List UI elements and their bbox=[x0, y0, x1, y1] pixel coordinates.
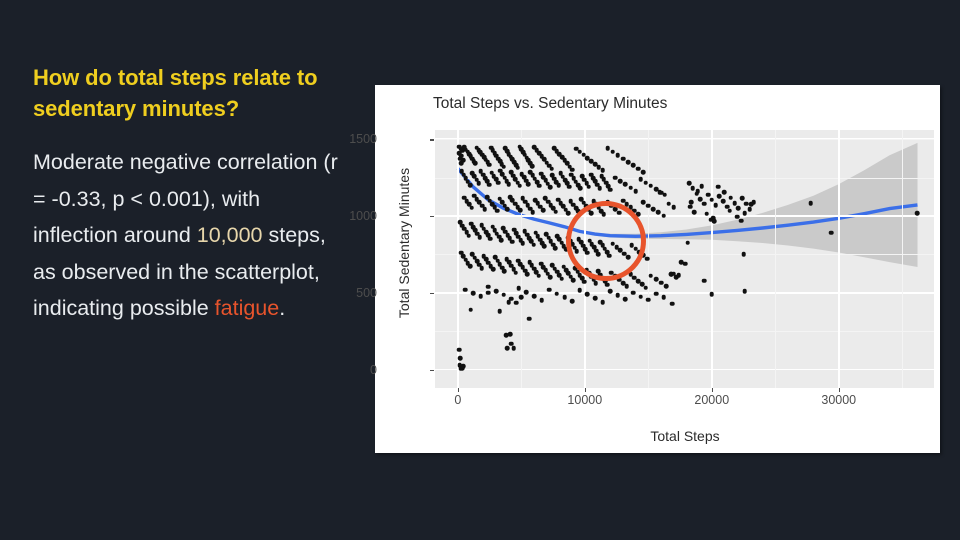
x-tick-mark bbox=[458, 388, 459, 392]
scatter-point bbox=[508, 332, 513, 337]
slide: How do total steps relate to sedentary m… bbox=[0, 0, 960, 540]
scatter-point bbox=[722, 190, 727, 195]
scatter-point bbox=[716, 185, 721, 190]
scatter-point bbox=[638, 177, 643, 182]
scatter-point bbox=[649, 184, 654, 189]
gridline-vertical-minor bbox=[521, 130, 522, 388]
y-tick-mark bbox=[430, 216, 434, 217]
scatter-point bbox=[749, 202, 754, 207]
annotation-circle-inflection bbox=[566, 201, 646, 281]
gridline-horizontal bbox=[435, 215, 934, 217]
scatter-point bbox=[717, 194, 722, 199]
scatter-point bbox=[487, 162, 492, 167]
y-tick-mark bbox=[430, 293, 434, 294]
scatter-point bbox=[548, 275, 553, 280]
scatter-point bbox=[502, 269, 507, 274]
scatter-point bbox=[809, 201, 814, 206]
scatter-point bbox=[671, 271, 676, 276]
scatter-point bbox=[479, 266, 484, 271]
x-tick-mark bbox=[712, 388, 713, 392]
scatter-point bbox=[487, 182, 492, 187]
scatter-point bbox=[666, 201, 671, 206]
scatter-point bbox=[577, 288, 582, 293]
scatter-point bbox=[656, 210, 661, 215]
scatter-point bbox=[623, 297, 628, 302]
scatter-point bbox=[553, 246, 558, 251]
highlight-steps-value: 10,000 bbox=[197, 223, 263, 247]
scatter-point bbox=[497, 309, 502, 314]
scatter-point bbox=[468, 183, 473, 188]
scatter-point bbox=[531, 243, 536, 248]
scatter-point bbox=[654, 291, 659, 296]
scatter-point bbox=[618, 179, 623, 184]
x-tick-label: 10000 bbox=[550, 393, 620, 407]
scatter-point bbox=[466, 233, 471, 238]
scatter-point bbox=[685, 241, 690, 246]
scatter-point bbox=[641, 200, 646, 205]
scatter-point bbox=[676, 273, 681, 278]
chart-card: Total Steps vs. Sedentary Minutes Total … bbox=[375, 85, 940, 453]
scatter-point bbox=[706, 192, 711, 197]
scatter-point bbox=[471, 291, 476, 296]
scatter-point bbox=[514, 270, 519, 275]
scatter-point bbox=[712, 219, 717, 224]
scatter-point bbox=[704, 211, 709, 216]
scatter-point bbox=[505, 346, 510, 351]
scatter-point bbox=[517, 286, 522, 291]
scatter-point bbox=[643, 180, 648, 185]
x-tick-mark bbox=[839, 388, 840, 392]
y-tick-mark bbox=[430, 370, 434, 371]
scatter-point bbox=[649, 274, 654, 279]
scatter-point bbox=[597, 186, 602, 191]
scatter-point bbox=[616, 153, 621, 158]
scatter-point bbox=[488, 236, 493, 241]
y-tick-label: 1500 bbox=[317, 132, 377, 146]
scatter-point bbox=[621, 156, 626, 161]
scatter-point bbox=[613, 175, 618, 180]
scatter-point bbox=[511, 346, 516, 351]
scatter-point bbox=[510, 240, 515, 245]
scatter-point bbox=[633, 189, 638, 194]
body-text-part3: . bbox=[279, 296, 285, 320]
scatter-point bbox=[473, 161, 478, 166]
chart-title: Total Steps vs. Sedentary Minutes bbox=[433, 95, 667, 113]
scatter-point bbox=[486, 290, 491, 295]
scatter-point bbox=[536, 273, 541, 278]
x-axis-title: Total Steps bbox=[435, 428, 935, 444]
y-tick-mark bbox=[430, 139, 434, 140]
scatter-point bbox=[670, 301, 675, 306]
gridline-horizontal-minor bbox=[435, 139, 934, 140]
scatter-point bbox=[643, 286, 648, 291]
scatter-point bbox=[631, 163, 636, 168]
scatter-point bbox=[519, 295, 524, 300]
scatter-point bbox=[570, 299, 575, 304]
scatter-point bbox=[524, 290, 529, 295]
scatter-point bbox=[495, 208, 500, 213]
scatter-point bbox=[470, 205, 475, 210]
scatter-point bbox=[515, 165, 520, 170]
scatter-point bbox=[744, 201, 749, 206]
plot-panel bbox=[435, 130, 934, 388]
scatter-point bbox=[631, 290, 636, 295]
scatter-point bbox=[741, 252, 746, 257]
scatter-point bbox=[517, 184, 522, 189]
scatter-point bbox=[710, 292, 715, 297]
scatter-point bbox=[688, 204, 693, 209]
scatter-point bbox=[690, 186, 695, 191]
scatter-point bbox=[710, 198, 715, 203]
scatter-point bbox=[530, 210, 535, 215]
y-tick-label: 1000 bbox=[317, 209, 377, 223]
scatter-point bbox=[506, 300, 511, 305]
scatter-point bbox=[687, 181, 692, 186]
x-tick-label: 20000 bbox=[677, 393, 747, 407]
scatter-point bbox=[461, 364, 466, 369]
gridline-horizontal bbox=[435, 369, 934, 371]
scatter-point bbox=[659, 280, 664, 285]
scatter-point bbox=[593, 296, 598, 301]
scatter-point bbox=[468, 307, 473, 312]
scatter-point bbox=[578, 186, 583, 191]
scatter-point bbox=[616, 293, 621, 298]
scatter-point bbox=[525, 272, 530, 277]
y-axis-title: Total Sedentary Minutes bbox=[396, 118, 412, 368]
scatter-point bbox=[532, 294, 537, 299]
scatter-point bbox=[663, 192, 668, 197]
scatter-point bbox=[541, 208, 546, 213]
scatter-point bbox=[571, 278, 576, 283]
scatter-point bbox=[727, 208, 732, 213]
y-tick-label: 500 bbox=[317, 286, 377, 300]
scatter-point bbox=[491, 267, 496, 272]
scatter-point bbox=[567, 185, 572, 190]
scatter-point bbox=[661, 295, 666, 300]
highlight-fatigue: fatigue bbox=[215, 296, 280, 320]
scatter-point bbox=[539, 298, 544, 303]
x-tick-label: 30000 bbox=[804, 393, 874, 407]
scatter-point bbox=[608, 187, 613, 192]
scatter-point bbox=[661, 213, 666, 218]
scatter-point bbox=[699, 184, 704, 189]
scatter-point bbox=[496, 181, 501, 186]
scatter-point bbox=[459, 161, 464, 166]
scatter-point bbox=[829, 231, 834, 236]
scatter-point bbox=[542, 244, 547, 249]
page-title: How do total steps relate to sedentary m… bbox=[33, 62, 345, 124]
scatter-point bbox=[721, 199, 726, 204]
scatter-point bbox=[537, 183, 542, 188]
scatter-point bbox=[736, 206, 741, 211]
scatter-point bbox=[499, 238, 504, 243]
x-tick-label: 0 bbox=[423, 393, 493, 407]
scatter-point bbox=[548, 185, 553, 190]
gridline-horizontal-minor bbox=[435, 254, 934, 255]
scatter-point bbox=[559, 276, 564, 281]
gridline-horizontal-minor bbox=[435, 178, 934, 179]
scatter-point bbox=[586, 184, 591, 189]
scatter-point bbox=[664, 284, 669, 289]
scatter-point bbox=[743, 211, 748, 216]
scatter-point bbox=[463, 287, 468, 292]
scatter-point bbox=[628, 185, 633, 190]
scatter-point bbox=[582, 279, 587, 284]
x-tick-mark bbox=[585, 388, 586, 392]
scatter-point bbox=[608, 289, 613, 294]
body-paragraph: Moderate negative correlation (r = -0.33… bbox=[33, 144, 345, 327]
scatter-point bbox=[638, 294, 643, 299]
scatter-point bbox=[526, 182, 531, 187]
scatter-point bbox=[636, 166, 641, 171]
scatter-point bbox=[748, 207, 753, 212]
scatter-point bbox=[641, 170, 646, 175]
scatter-point bbox=[555, 291, 560, 296]
scatter-point bbox=[507, 182, 512, 187]
scatter-point bbox=[692, 210, 697, 215]
scatter-point bbox=[600, 300, 605, 305]
scatter-point bbox=[915, 211, 920, 216]
scatter-point bbox=[457, 347, 462, 352]
y-tick-label: 0 bbox=[317, 363, 377, 377]
scatter-point bbox=[605, 146, 610, 151]
scatter-point bbox=[702, 201, 707, 206]
scatter-point bbox=[530, 164, 535, 169]
scatter-point bbox=[713, 203, 718, 208]
scatter-point bbox=[505, 207, 510, 212]
scatter-point bbox=[739, 218, 744, 223]
scatter-point bbox=[501, 292, 506, 297]
scatter-point bbox=[600, 168, 605, 173]
scatter-point bbox=[458, 356, 463, 361]
scatter-point bbox=[494, 289, 499, 294]
scatter-point bbox=[651, 207, 656, 212]
scatter-point bbox=[702, 278, 707, 283]
scatter-point bbox=[696, 189, 701, 194]
scatter-point bbox=[468, 264, 473, 269]
scatter-point bbox=[610, 150, 615, 155]
scatter-point bbox=[624, 284, 629, 289]
smoother-overlay bbox=[435, 130, 934, 388]
text-column: How do total steps relate to sedentary m… bbox=[33, 62, 345, 327]
scatter-point bbox=[645, 256, 650, 261]
scatter-point bbox=[527, 317, 532, 322]
scatter-point bbox=[562, 295, 567, 300]
scatter-point bbox=[623, 182, 628, 187]
scatter-point bbox=[478, 294, 483, 299]
scatter-point bbox=[585, 292, 590, 297]
scatter-point bbox=[556, 183, 561, 188]
scatter-point bbox=[605, 283, 610, 288]
scatter-point bbox=[698, 197, 703, 202]
scatter-point bbox=[570, 167, 575, 172]
scatter-point bbox=[486, 284, 491, 289]
scatter-point bbox=[654, 277, 659, 282]
scatter-point bbox=[553, 209, 558, 214]
scatter-point bbox=[477, 235, 482, 240]
scatter-point bbox=[626, 160, 631, 165]
gridline-vertical bbox=[838, 130, 840, 388]
scatter-point bbox=[550, 166, 555, 171]
scatter-point bbox=[683, 261, 688, 266]
scatter-point bbox=[566, 211, 571, 216]
scatter-point bbox=[671, 205, 676, 210]
scatter-point bbox=[729, 195, 734, 200]
scatter-point bbox=[732, 201, 737, 206]
gridline-vertical bbox=[711, 130, 713, 388]
scatter-point bbox=[657, 190, 662, 195]
scatter-point bbox=[520, 241, 525, 246]
scatter-point bbox=[646, 297, 651, 302]
scatter-point bbox=[476, 181, 481, 186]
scatter-point bbox=[689, 200, 694, 205]
scatter-point bbox=[646, 203, 651, 208]
scatter-point bbox=[482, 207, 487, 212]
gridline-vertical-minor bbox=[775, 130, 776, 388]
gridline-horizontal bbox=[435, 292, 934, 294]
scatter-point bbox=[547, 287, 552, 292]
gridline-vertical-minor bbox=[902, 130, 903, 388]
scatter-point bbox=[594, 281, 599, 286]
scatter-point bbox=[740, 196, 745, 201]
scatter-point bbox=[743, 289, 748, 294]
scatter-point bbox=[514, 300, 519, 305]
scatter-point bbox=[518, 208, 523, 213]
